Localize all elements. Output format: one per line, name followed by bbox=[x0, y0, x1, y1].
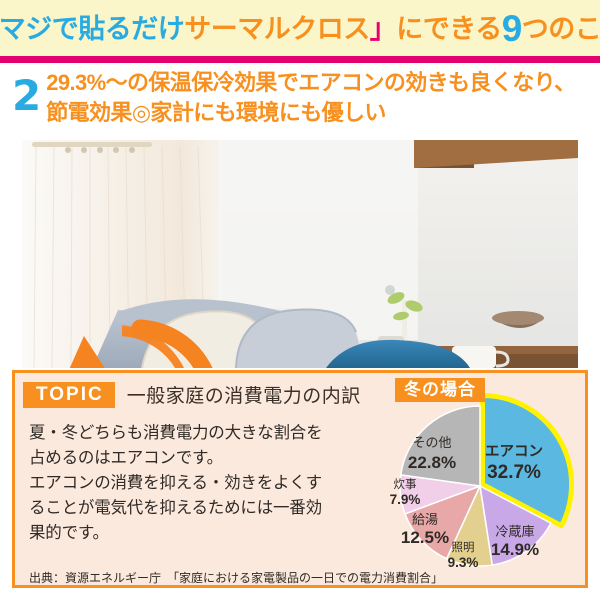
header-banner: 「マジで貼るだけサーマルクロス」にできる9つのこと bbox=[0, 0, 600, 56]
pie-label-value-5: 22.8% bbox=[408, 453, 456, 472]
pie-label-value-2: 9.3% bbox=[448, 555, 479, 570]
header-brand-prefix: マジで貼るだけ bbox=[0, 14, 184, 44]
pie-label-name-4: 炊事 bbox=[394, 478, 417, 491]
header-title: 「マジで貼るだけサーマルクロス」にできる9つのこと bbox=[0, 10, 600, 47]
pie-label-value-3: 12.5% bbox=[401, 528, 449, 547]
subtitle-index-number: 2 bbox=[12, 66, 41, 126]
circular-arrows-icon bbox=[44, 312, 244, 368]
panel-body-text: 夏・冬どちらも消費電力の大きな割合を 占めるのはエアコンです。 エアコンの消費を… bbox=[29, 421, 379, 546]
topic-badge: TOPIC bbox=[23, 382, 115, 408]
subtitle-block: 2 29.3%〜の保温保冷効果でエアコンの効きも良くなり、 節電効果◎家計にも環… bbox=[0, 66, 600, 130]
pie-label-name-0: エアコン bbox=[485, 444, 543, 460]
pie-label-value-4: 7.9% bbox=[390, 492, 421, 507]
header-count-number: 9 bbox=[502, 8, 522, 49]
pie-label-name-5: その他 bbox=[412, 435, 451, 450]
topic-title: 一般家庭の消費電力の内訳 bbox=[127, 381, 361, 408]
body-line-2: 占めるのはエアコンです。 bbox=[29, 446, 379, 471]
topic-header: TOPIC 一般家庭の消費電力の内訳 bbox=[23, 381, 361, 408]
header-brand-name: サーマルクロス bbox=[184, 14, 370, 44]
consumption-pie-chart: エアコン 32.7% 冷蔵庫 14.9% 照明 9.3% 給湯 12.5% 炊事… bbox=[372, 388, 588, 584]
header-divider bbox=[0, 56, 600, 63]
pie-label-value-1: 14.9% bbox=[491, 540, 539, 559]
body-line-4: ることが電気代を抑えるためには一番効 bbox=[29, 496, 379, 521]
pie-label-name-2: 照明 bbox=[452, 541, 475, 554]
pie-chart-svg: エアコン 32.7% 冷蔵庫 14.9% 照明 9.3% 給湯 12.5% 炊事… bbox=[372, 388, 588, 584]
subtitle-line-2: 節電効果◎家計にも環境にも優しい bbox=[46, 98, 575, 128]
subtitle-line-1: 29.3%〜の保温保冷効果でエアコンの効きも良くなり、 bbox=[46, 68, 575, 98]
body-line-5: 果的です。 bbox=[29, 521, 379, 546]
subtitle-text: 29.3%〜の保温保冷効果でエアコンの効きも良くなり、 節電効果◎家計にも環境に… bbox=[46, 66, 575, 128]
header-tail-after: つのこと bbox=[522, 14, 600, 44]
pie-label-value-0: 32.7% bbox=[487, 462, 541, 483]
body-line-1: 夏・冬どちらも消費電力の大きな割合を bbox=[29, 421, 379, 446]
header-tail-before: にできる bbox=[396, 14, 501, 44]
room-photo bbox=[22, 140, 578, 368]
body-line-3: エアコンの消費を抑える・効きをよくす bbox=[29, 471, 379, 496]
pie-label-name-3: 給湯 bbox=[412, 512, 438, 527]
infographic-page: 「マジで貼るだけサーマルクロス」にできる9つのこと 2 29.3%〜の保温保冷効… bbox=[0, 0, 600, 600]
pie-label-name-1: 冷蔵庫 bbox=[495, 524, 534, 539]
header-quote-close: 」 bbox=[370, 14, 397, 44]
season-badge: 冬の場合 bbox=[395, 378, 485, 402]
